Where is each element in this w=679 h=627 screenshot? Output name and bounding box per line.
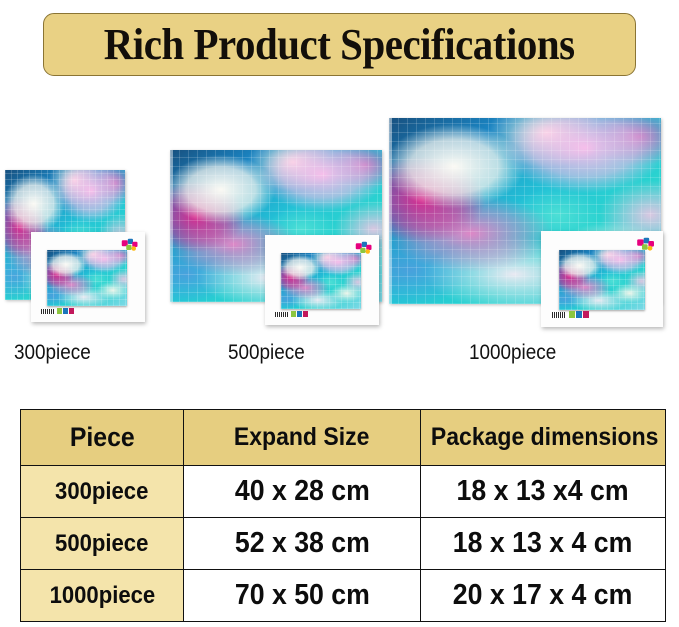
badge-green	[291, 311, 296, 317]
badge-magenta	[69, 308, 74, 314]
box-footer-badges	[275, 311, 308, 317]
cell-piece-1000: 1000piece	[21, 570, 184, 622]
badge-magenta	[583, 311, 589, 318]
page-title: Rich Product Specifications	[104, 19, 575, 70]
badge-magenta	[303, 311, 308, 317]
puzzle-pieces-icon	[355, 241, 373, 256]
table-header-row: Piece Expand Size Package dimensions	[21, 410, 666, 466]
box-footer-badges	[41, 308, 74, 314]
badge-blue	[297, 311, 302, 317]
header-expand-size: Expand Size	[184, 410, 421, 466]
table-row: 1000piece 70 x 50 cm 20 x 17 x 4 cm	[21, 570, 666, 622]
puzzle-pieces-icon	[121, 238, 139, 253]
box-cover-artwork	[559, 250, 645, 310]
product-box-1000piece	[541, 231, 663, 327]
specifications-table: Piece Expand Size Package dimensions 300…	[20, 409, 666, 622]
puzzle-pieces-icon	[636, 237, 656, 253]
cell-expand-300: 40 x 28 cm	[184, 466, 421, 518]
piece-label-300piece: 300piece	[14, 341, 91, 365]
piece-label-1000piece: 1000piece	[469, 341, 556, 365]
cell-package-500: 18 x 13 x 4 cm	[421, 518, 666, 570]
cell-expand-1000: 70 x 50 cm	[184, 570, 421, 622]
puzzle-grid-texture	[559, 250, 645, 310]
puzzle-grid-texture	[47, 250, 127, 306]
cell-piece-300: 300piece	[21, 466, 184, 518]
table-row: 300piece 40 x 28 cm 18 x 13 x4 cm	[21, 466, 666, 518]
box-footer-badges	[552, 311, 589, 318]
barcode-icon	[41, 309, 54, 314]
puzzle-pieces-icon	[636, 237, 656, 253]
header-package-dimensions: Package dimensions	[421, 410, 666, 466]
puzzle-grid-texture	[281, 253, 361, 309]
badge-blue	[576, 311, 582, 318]
table-row: 500piece 52 x 38 cm 18 x 13 x 4 cm	[21, 518, 666, 570]
cell-package-1000: 20 x 17 x 4 cm	[421, 570, 666, 622]
title-banner: Rich Product Specifications	[43, 13, 636, 76]
cell-piece-500: 500piece	[21, 518, 184, 570]
box-cover-artwork	[47, 250, 127, 306]
badge-blue	[63, 308, 68, 314]
puzzle-pieces-icon	[355, 241, 373, 256]
piece-label-500piece: 500piece	[228, 341, 305, 365]
badge-green	[57, 308, 62, 314]
puzzle-pieces-icon	[121, 238, 139, 253]
product-box-300piece	[31, 232, 145, 322]
barcode-icon	[275, 312, 288, 317]
cell-expand-500: 52 x 38 cm	[184, 518, 421, 570]
cell-package-300: 18 x 13 x4 cm	[421, 466, 666, 518]
product-box-500piece	[265, 235, 379, 325]
barcode-icon	[552, 312, 566, 318]
badge-green	[569, 311, 575, 318]
box-cover-artwork	[281, 253, 361, 309]
header-piece: Piece	[21, 410, 184, 466]
